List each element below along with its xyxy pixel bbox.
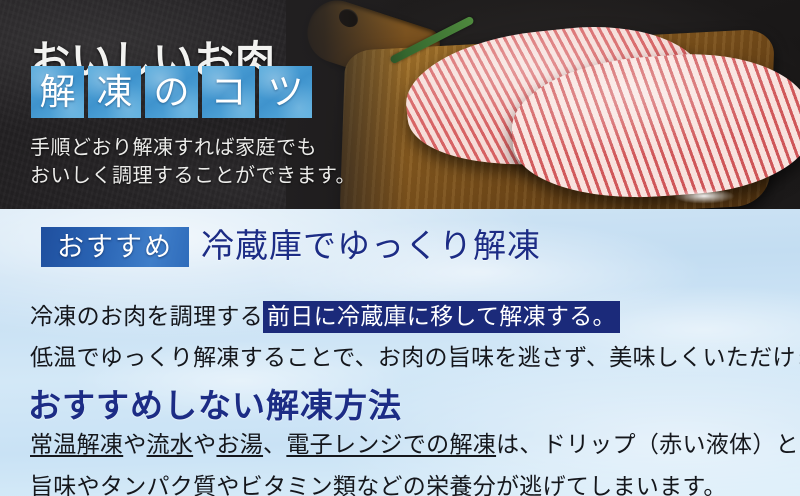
hero-section: おいしいお肉 解 凍 の コ ツ 手順どおり解凍すれば家庭でも おいしく調理する…: [0, 0, 800, 209]
hero-subtitle-line-2: おいしく調理することができます。: [30, 162, 330, 190]
hero-subtitle: 手順どおり解凍すれば家庭でも おいしく調理することができます。: [30, 134, 330, 191]
salt-crystals: [672, 188, 736, 204]
advice-panel-inner: おすすめ 冷蔵庫でゆっくり解凍 冷凍のお肉を調理する前日に冷蔵庫に移して解凍する…: [0, 209, 800, 496]
recommended-badge: おすすめ: [41, 227, 189, 267]
not-recommended-line-1-part-2: や: [123, 432, 146, 457]
not-recommended-line-1-part-3: 流水: [147, 432, 194, 457]
recommended-title: 冷蔵庫でゆっくり解凍: [201, 231, 541, 264]
hero-tile-1: 解: [31, 66, 84, 118]
recommended-line-1-prefix: 冷凍のお肉を調理する: [30, 304, 263, 329]
hero-copy: おいしいお肉 解 凍 の コ ツ 手順どおり解凍すれば家庭でも おいしく調理する…: [0, 0, 330, 209]
hero-subtitle-line-1: 手順どおり解凍すれば家庭でも: [30, 134, 330, 162]
recommended-line-1-highlight: 前日に冷蔵庫に移して解凍する。: [263, 301, 620, 333]
hero-tile-5: ツ: [259, 66, 312, 118]
not-recommended-line-1-part-8: は、ドリップ（赤い液体）とともに: [496, 432, 800, 457]
not-recommended-line-1-part-1: 常温解凍: [30, 432, 123, 457]
recommended-line-2: 低温でゆっくり解凍することで、お肉の旨味を逃さず、美味しくいただけます。: [30, 346, 800, 369]
advice-panel: おすすめ 冷蔵庫でゆっくり解凍 冷凍のお肉を調理する前日に冷蔵庫に移して解凍する…: [0, 209, 800, 496]
not-recommended-line-1-part-7: 電子レンジでの解凍: [286, 432, 496, 457]
not-recommended-line-2: 旨味やタンパク質やビタミン類などの栄養分が逃げてしまいます。: [30, 475, 727, 496]
not-recommended-line-1-part-4: や: [193, 432, 216, 457]
hero-tile-3: の: [145, 66, 198, 118]
not-recommended-line-1-part-6: 、: [263, 432, 286, 457]
meat-photo: [286, 0, 800, 209]
hero-tile-row: 解 凍 の コ ツ: [31, 66, 312, 118]
not-recommended-title: おすすめしない解凍方法: [28, 391, 402, 424]
not-recommended-line-1: 常温解凍や流水やお湯、電子レンジでの解凍は、ドリップ（赤い液体）とともに: [30, 433, 800, 456]
hero-tile-2: 凍: [88, 66, 141, 118]
recommended-line-1: 冷凍のお肉を調理する前日に冷蔵庫に移して解凍する。: [30, 305, 620, 328]
not-recommended-line-1-part-5: お湯: [216, 432, 263, 457]
infographic-poster: おいしいお肉 解 凍 の コ ツ 手順どおり解凍すれば家庭でも おいしく調理する…: [0, 0, 800, 496]
hero-tile-4: コ: [202, 66, 255, 118]
recommended-heading: おすすめ 冷蔵庫でゆっくり解凍: [41, 227, 541, 267]
